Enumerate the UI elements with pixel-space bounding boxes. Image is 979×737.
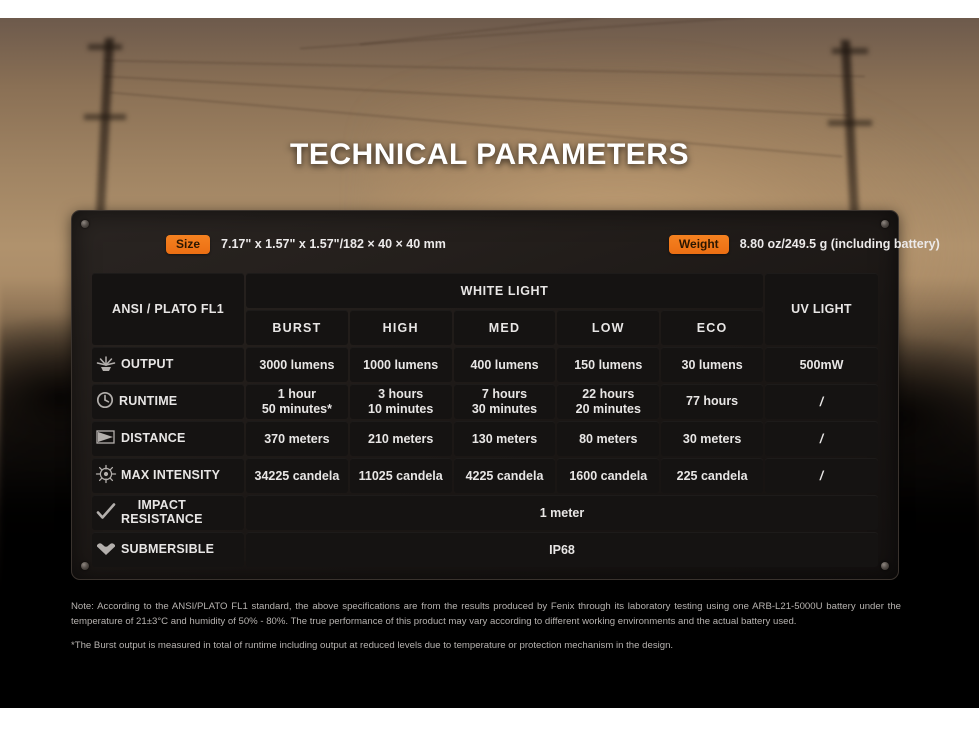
cell-runtime-low: 22 hours20 minutes	[557, 384, 659, 419]
row-label-submersible: SUBMERSIBLE	[92, 532, 244, 567]
mode-header-med: MED	[454, 310, 556, 345]
cell-distance-med: 130 meters	[454, 421, 556, 456]
white-light-header: WHITE LIGHT	[246, 273, 763, 308]
page-title: TECHNICAL PARAMETERS	[0, 138, 979, 172]
cell-output-high: 1000 lumens	[350, 347, 452, 382]
water-drop-icon	[95, 539, 117, 560]
power-line	[360, 18, 857, 45]
cell-distance-high: 210 meters	[350, 421, 452, 456]
technical-parameters-page: TECHNICAL PARAMETERS Size 7.17" x 1.57" …	[0, 0, 979, 737]
cell-intensity-eco: 225 candela	[661, 458, 763, 493]
screw-icon	[881, 220, 889, 228]
row-label-runtime: RUNTIME	[92, 384, 244, 419]
spec-panel: Size 7.17" x 1.57" x 1.57"/182 × 40 × 40…	[71, 210, 899, 580]
beam-icon	[95, 428, 117, 449]
sunburst-icon	[95, 353, 117, 376]
cell-intensity-burst: 34225 candela	[246, 458, 348, 493]
tower-crossarm	[828, 120, 872, 126]
cell-distance-eco: 30 meters	[661, 421, 763, 456]
specifications-table: ANSI / PLATO FL1 WHITE LIGHT UV LIGHT BU…	[90, 271, 880, 569]
cell-impact-resistance-value: 1 meter	[246, 495, 878, 530]
cell-runtime-eco: 77 hours	[661, 384, 763, 419]
footnote-standard: Note: According to the ANSI/PLATO FL1 st…	[71, 600, 901, 630]
table-row: IMPACTRESISTANCE 1 meter	[92, 495, 878, 530]
footnote-burst: *The Burst output is measured in total o…	[71, 639, 901, 654]
mode-header-burst: BURST	[246, 310, 348, 345]
row-label-text: SUBMERSIBLE	[121, 543, 214, 557]
cell-intensity-low: 1600 candela	[557, 458, 659, 493]
cell-output-low: 150 lumens	[557, 347, 659, 382]
screw-icon	[81, 220, 89, 228]
screw-icon	[881, 562, 889, 570]
row-label-distance: DISTANCE	[92, 421, 244, 456]
cell-submersible-value: IP68	[246, 532, 878, 567]
weight-item: Weight 8.80 oz/249.5 g (including batter…	[669, 235, 940, 254]
footnotes: Note: According to the ANSI/PLATO FL1 st…	[71, 600, 901, 654]
cell-output-eco: 30 lumens	[661, 347, 763, 382]
tower-crossarm	[88, 44, 122, 50]
row-label-output: OUTPUT	[92, 347, 244, 382]
cell-intensity-med: 4225 candela	[454, 458, 556, 493]
row-label-text: RUNTIME	[119, 395, 177, 409]
size-value: 7.17" x 1.57" x 1.57"/182 × 40 × 40 mm	[221, 237, 446, 251]
crosshair-icon	[95, 464, 117, 487]
cell-output-med: 400 lumens	[454, 347, 556, 382]
table-row: OUTPUT 3000 lumens 1000 lumens 400 lumen…	[92, 347, 878, 382]
cell-runtime-high: 3 hours10 minutes	[350, 384, 452, 419]
tower-crossarm	[84, 114, 126, 120]
row-label-impact-resistance: IMPACTRESISTANCE	[92, 495, 244, 530]
mode-header-high: HIGH	[350, 310, 452, 345]
size-item: Size 7.17" x 1.57" x 1.57"/182 × 40 × 40…	[166, 235, 446, 254]
row-label-text: OUTPUT	[121, 358, 174, 372]
cell-intensity-uv: /	[765, 458, 878, 493]
table-row: DISTANCE 370 meters 210 meters 130 meter…	[92, 421, 878, 456]
row-label-text: DISTANCE	[121, 432, 186, 446]
cell-distance-uv: /	[765, 421, 878, 456]
weight-badge: Weight	[669, 235, 729, 254]
row-label-max-intensity: MAX INTENSITY	[92, 458, 244, 493]
cell-runtime-burst: 1 hour50 minutes*	[246, 384, 348, 419]
table-row: SUBMERSIBLE IP68	[92, 532, 878, 567]
dimensions-strip: Size 7.17" x 1.57" x 1.57"/182 × 40 × 40…	[90, 227, 880, 261]
cell-runtime-uv: /	[765, 384, 878, 419]
table-header-group-row: ANSI / PLATO FL1 WHITE LIGHT UV LIGHT	[92, 273, 878, 308]
table-row: MAX INTENSITY 34225 candela 11025 candel…	[92, 458, 878, 493]
cell-output-uv: 500mW	[765, 347, 878, 382]
table-row: RUNTIME 1 hour50 minutes* 3 hours10 minu…	[92, 384, 878, 419]
weight-value: 8.80 oz/249.5 g (including battery)	[740, 237, 940, 251]
mode-header-eco: ECO	[661, 310, 763, 345]
checkmark-icon	[95, 501, 117, 524]
cell-distance-burst: 370 meters	[246, 421, 348, 456]
power-line	[300, 18, 859, 49]
tower-crossarm	[832, 48, 868, 54]
size-badge: Size	[166, 235, 210, 254]
cell-intensity-high: 11025 candela	[350, 458, 452, 493]
cell-output-burst: 3000 lumens	[246, 347, 348, 382]
cell-runtime-med: 7 hours30 minutes	[454, 384, 556, 419]
transmission-tower-left	[95, 38, 114, 228]
row-label-text: IMPACTRESISTANCE	[121, 499, 203, 526]
cell-distance-low: 80 meters	[557, 421, 659, 456]
mode-header-low: LOW	[557, 310, 659, 345]
clock-icon	[95, 390, 115, 413]
screw-icon	[81, 562, 89, 570]
standard-label: ANSI / PLATO FL1	[92, 273, 244, 345]
row-label-text: MAX INTENSITY	[121, 469, 220, 483]
uv-light-header: UV LIGHT	[765, 273, 878, 345]
